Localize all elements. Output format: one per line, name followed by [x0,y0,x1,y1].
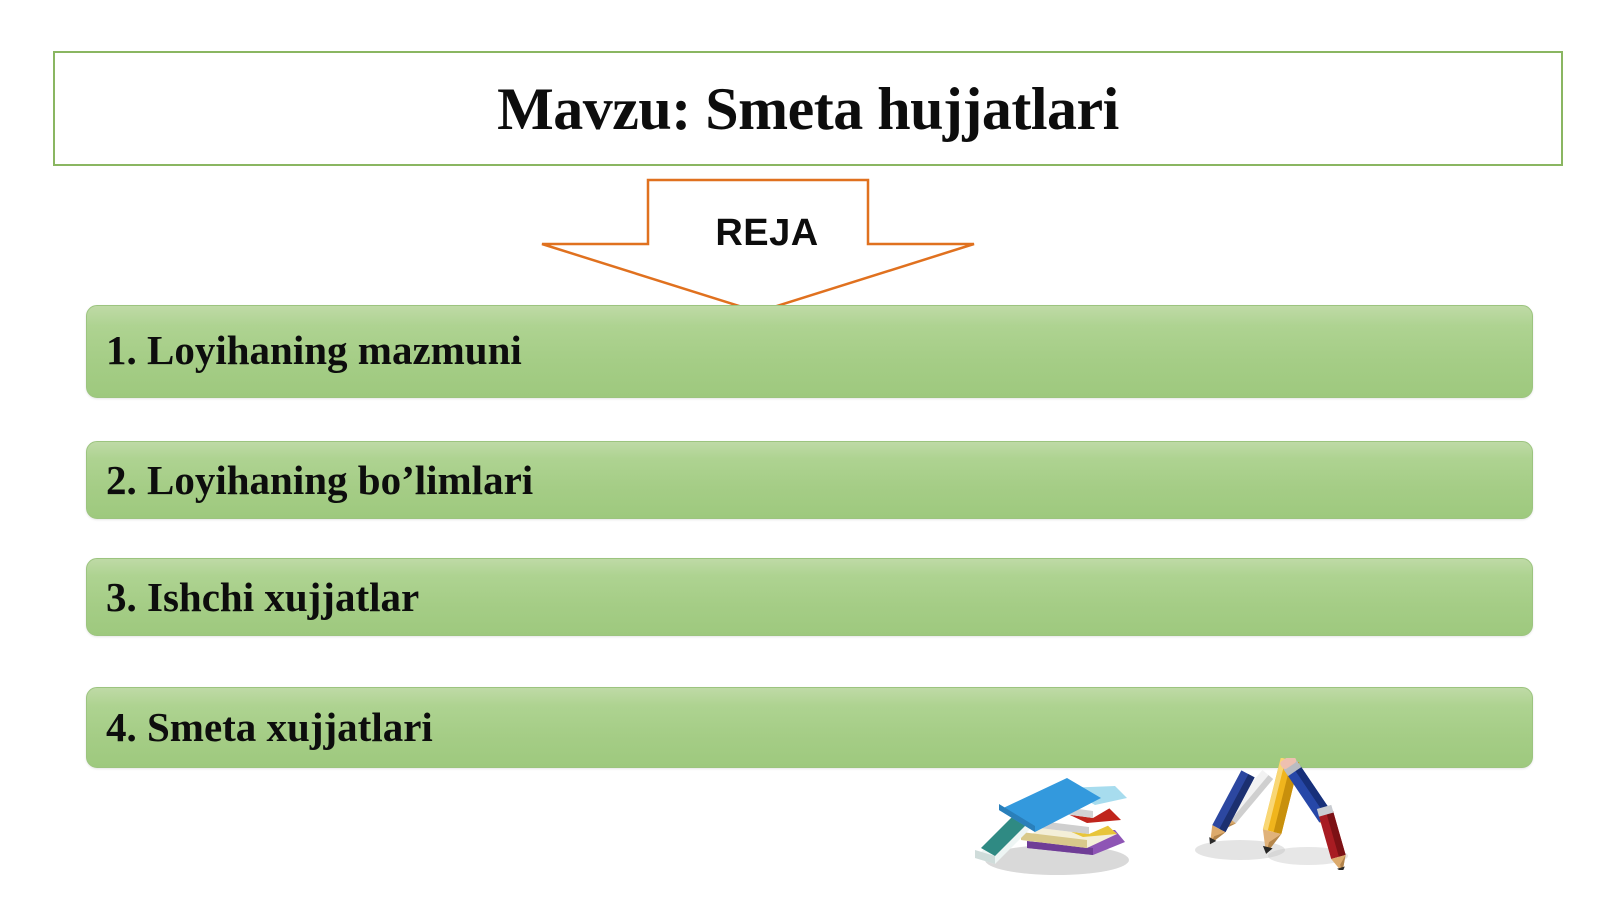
plan-item-label: 4. Smeta xujjatlari [87,707,433,748]
books-icon [965,760,1150,880]
plan-item-4[interactable]: 4. Smeta xujjatlari [86,687,1533,768]
pencils-clipart-image [1180,758,1365,870]
pencils-icon [1180,758,1365,870]
title-box: Mavzu: Smeta hujjatlari [53,51,1563,166]
reja-label: REJA [538,214,978,252]
plan-item-3[interactable]: 3. Ishchi xujjatlar [86,558,1533,636]
plan-item-1[interactable]: 1. Loyihaning mazmuni [86,305,1533,398]
plan-item-2[interactable]: 2. Loyihaning bo’limlari [86,441,1533,519]
plan-item-label: 1. Loyihaning mazmuni [87,330,522,373]
page-title: Mavzu: Smeta hujjatlari [497,79,1119,139]
plan-item-label: 2. Loyihaning bo’limlari [87,460,533,501]
reja-arrow-block: REJA [538,176,978,318]
books-clipart-image [965,760,1150,880]
plan-item-label: 3. Ishchi xujjatlar [87,577,419,618]
